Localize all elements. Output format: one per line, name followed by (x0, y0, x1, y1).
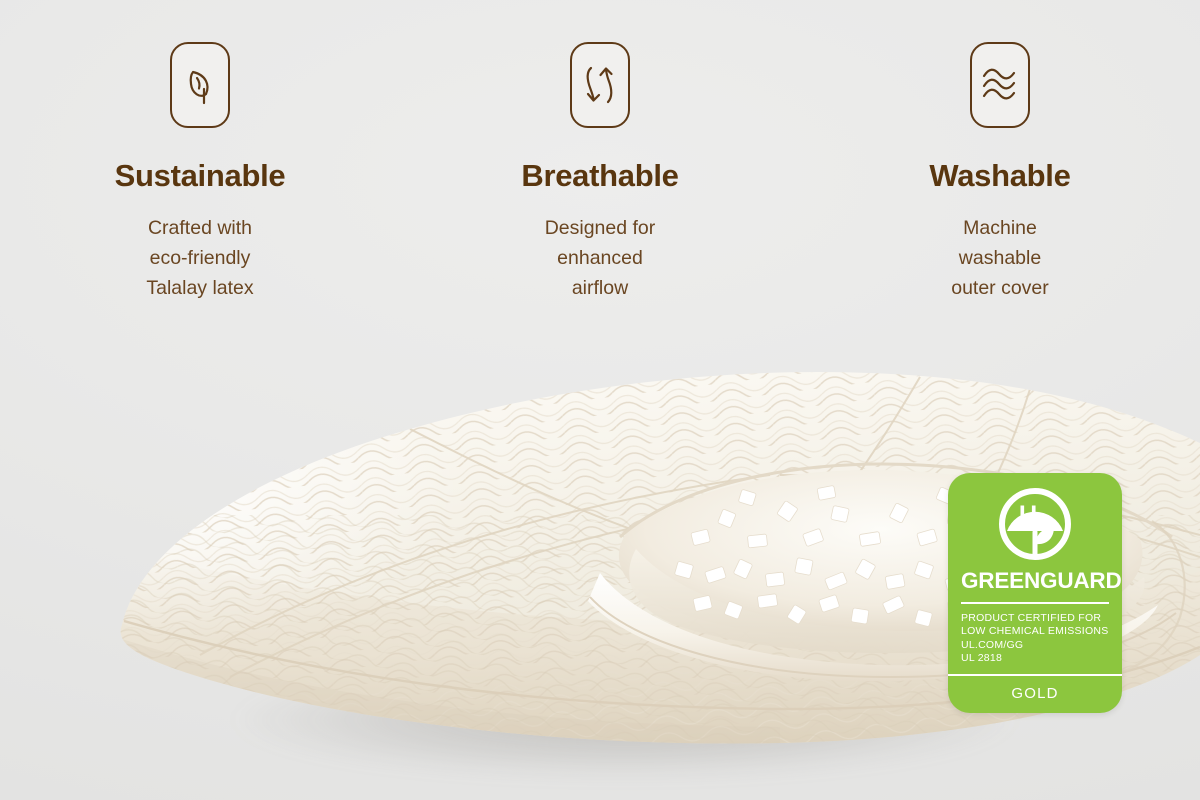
badge-divider-bottom (948, 674, 1122, 676)
feature-breathable: Breathable Designed for enhanced airflow (400, 42, 800, 303)
feature-washable: Washable Machine washable outer cover (800, 42, 1200, 303)
feature-description: Designed for enhanced airflow (545, 213, 656, 303)
feature-sustainable: Sustainable Crafted with eco-friendly Ta… (0, 42, 400, 303)
badge-line-4: UL 2818 (961, 652, 1109, 666)
badge-divider-top (961, 602, 1109, 604)
feature-description: Machine washable outer cover (951, 213, 1049, 303)
feature-title: Sustainable (115, 160, 286, 191)
badge-line-3: UL.COM/GG (961, 639, 1109, 653)
ul-greenguard-logo: U L (961, 487, 1109, 561)
product-photo: U L GREENGUARD PRODUCT CERTIFIED FOR LOW… (0, 300, 1200, 800)
airflow-arrows-icon (570, 42, 630, 128)
feature-highlights: Sustainable Crafted with eco-friendly Ta… (0, 42, 1200, 303)
badge-certification-text: PRODUCT CERTIFIED FOR LOW CHEMICAL EMISS… (961, 612, 1109, 666)
greenguard-certification-badge[interactable]: U L GREENGUARD PRODUCT CERTIFIED FOR LOW… (948, 473, 1122, 713)
leaf-icon (170, 42, 230, 128)
badge-line-2: LOW CHEMICAL EMISSIONS (961, 625, 1109, 639)
feature-title: Washable (929, 160, 1070, 191)
svg-text:U: U (1019, 501, 1037, 529)
badge-line-1: PRODUCT CERTIFIED FOR (961, 612, 1109, 626)
feature-description: Crafted with eco-friendly Talalay latex (146, 213, 253, 303)
feature-title: Breathable (521, 160, 678, 191)
product-infographic: U L GREENGUARD PRODUCT CERTIFIED FOR LOW… (0, 0, 1200, 800)
greenguard-wordmark: GREENGUARD (961, 570, 1109, 593)
water-waves-icon (970, 42, 1030, 128)
badge-grade-label: GOLD (961, 685, 1109, 702)
